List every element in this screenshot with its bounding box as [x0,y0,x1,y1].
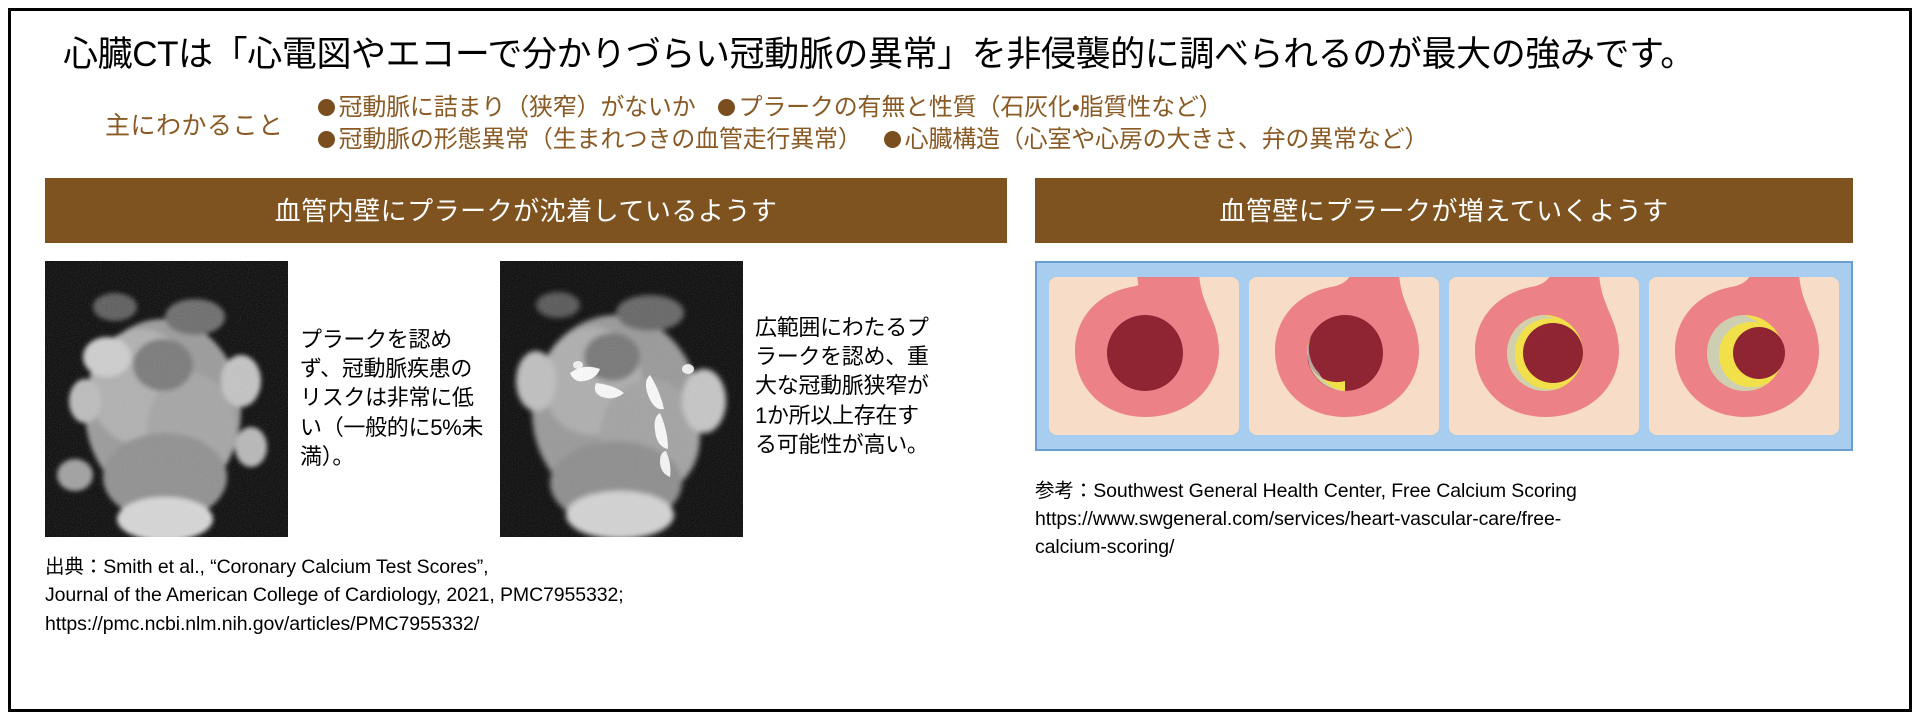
summary-label: 主にわかること [105,106,318,142]
summary-section: 主にわかること 冠動脈に詰まり（狭窄）がないか プラークの有無と性質（石灰化・脂… [45,92,1875,155]
reference-line: 参考：Southwest General Health Center, Free… [1035,477,1853,505]
ct-scan-image-normal [45,261,288,537]
bullet-dot-icon [718,99,735,116]
bullet-label: プラークの有無と性質（石灰化・脂質性など） [739,94,1223,121]
plaque-stage-moderate [1449,277,1639,435]
source-citation: 出典：Smith et al., “Coronary Calcium Test … [45,553,1007,639]
page-title: 心臓CTは「心電図やエコーで分かりづらい冠動脈の異常」を非侵襲的に調べられるのが… [45,35,1875,74]
reference-citation: 参考：Southwest General Health Center, Free… [1035,477,1853,562]
summary-row: 冠動脈の形態異常（生まれつきの血管走行異常） 心臓構造（心室や心房の大きさ、弁の… [318,124,1875,156]
panel-left-header: 血管内壁にプラークが沈着しているようす [45,178,1007,243]
reference-line: https://www.swgeneral.com/services/heart… [1035,505,1853,533]
ct-figure-2: 広範囲にわたるプラークを認め、重大な冠動脈狭窄が1か所以上存在する可能性が高い。 [500,261,931,537]
bullet-dot-icon [884,131,901,148]
summary-bullet-list: 冠動脈に詰まり（狭窄）がないか プラークの有無と性質（石灰化・脂質性など） 冠動… [318,92,1875,155]
bullet-label: 心臓構造（心室や心房の大きさ、弁の異常など） [905,126,1429,153]
source-line: 出典：Smith et al., “Coronary Calcium Test … [45,553,1007,582]
source-line: https://pmc.ncbi.nlm.nih.gov/articles/PM… [45,610,1007,639]
ct-caption-2: 広範囲にわたるプラークを認め、重大な冠動脈狭窄が1か所以上存在する可能性が高い。 [755,261,931,460]
panel-left-body: プラークを認めず、冠動脈疾患のリスクは非常に低い（一般的に5%未満）。 [45,261,1007,639]
bullet-item: 冠動脈の形態異常（生まれつきの血管走行異常） [318,124,862,156]
ct-figure-1: プラークを認めず、冠動脈疾患のリスクは非常に低い（一般的に5%未満）。 [45,261,486,537]
panel-right-body: 参考：Southwest General Health Center, Free… [1035,261,1853,562]
bullet-item: 冠動脈に詰まり（狭窄）がないか [318,92,696,124]
ct-caption-1: プラークを認めず、冠動脈疾患のリスクは非常に低い（一般的に5%未満）。 [300,261,486,472]
bullet-dot-icon [318,131,335,148]
bullet-item: プラークの有無と性質（石灰化・脂質性など） [718,92,1223,124]
source-line: Journal of the American College of Cardi… [45,581,1007,610]
bullet-item: 心臓構造（心室や心房の大きさ、弁の異常など） [884,124,1429,156]
summary-row: 冠動脈に詰まり（狭窄）がないか プラークの有無と性質（石灰化・脂質性など） [318,92,1875,124]
infographic-page: 心臓CTは「心電図やエコーで分かりづらい冠動脈の異常」を非侵襲的に調べられるのが… [0,0,1920,720]
outer-frame: 心臓CTは「心電図やエコーで分かりづらい冠動脈の異常」を非侵襲的に調べられるのが… [8,8,1912,712]
bullet-dot-icon [318,99,335,116]
ct-scan-image-calcified [500,261,743,537]
panel-left: 血管内壁にプラークが沈着しているようす [45,178,1007,639]
panels-container: 血管内壁にプラークが沈着しているようす [45,178,1875,639]
plaque-progression-strip [1035,261,1853,451]
plaque-stage-normal [1049,277,1239,435]
reference-line: calcium-scoring/ [1035,533,1853,561]
plaque-stage-mild [1249,277,1439,435]
bullet-label: 冠動脈に詰まり（狭窄）がないか [339,94,696,121]
panel-right-header: 血管壁にプラークが増えていくようす [1035,178,1853,243]
panel-right: 血管壁にプラークが増えていくようす [1035,178,1853,639]
bullet-label: 冠動脈の形態異常（生まれつきの血管走行異常） [339,126,862,153]
ct-figure-row: プラークを認めず、冠動脈疾患のリスクは非常に低い（一般的に5%未満）。 [45,261,1007,537]
plaque-stage-severe [1649,277,1839,435]
